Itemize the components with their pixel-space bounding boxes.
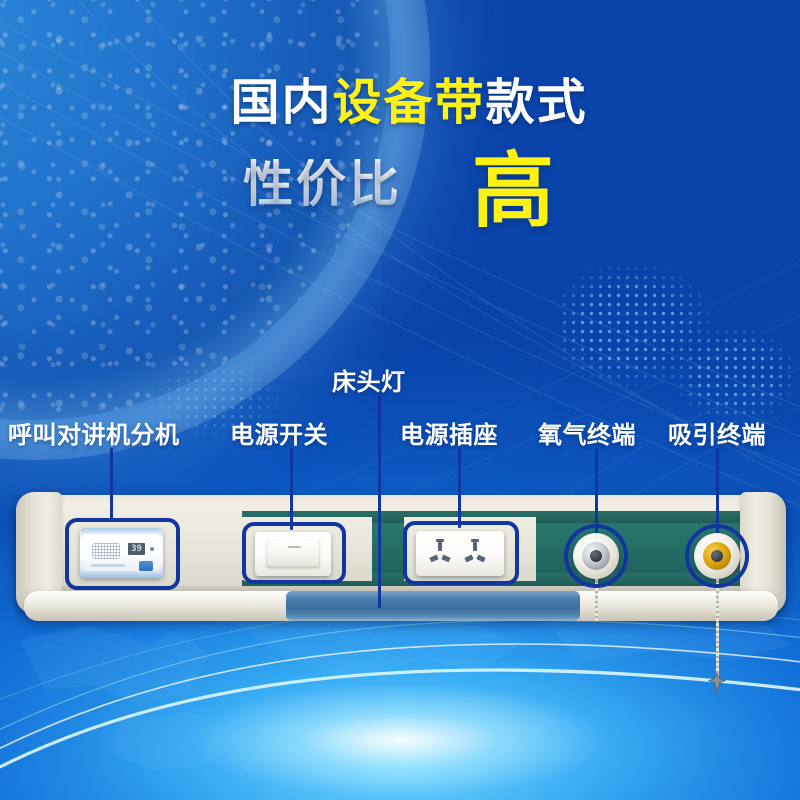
- leader-line-suction-terminal: [716, 448, 719, 534]
- power-switch-rocker[interactable]: [266, 540, 320, 568]
- oxygen-terminal-unit[interactable]: [573, 533, 619, 579]
- callout-label-bedside-lamp: 床头灯: [332, 362, 406, 397]
- power-switch-marking: [288, 546, 301, 548]
- intercom-label-strip: [91, 564, 125, 567]
- socket-left-pin-a: [429, 555, 438, 563]
- callout-label-suction-terminal: 吸引终端: [668, 415, 766, 450]
- suction-terminal-inner: [703, 542, 731, 570]
- callout-label-call-intercom-extension: 呼叫对讲机分机: [8, 415, 180, 450]
- oxygen-terminal-inner: [582, 542, 610, 570]
- power-switch-unit[interactable]: [255, 532, 331, 576]
- socket-left-top-pin-cap: [436, 539, 444, 542]
- leader-line-call-intercom-extension: [110, 448, 113, 522]
- suction-terminal-port: [711, 550, 723, 562]
- callout-label-oxygen-terminal: 氧气终端: [538, 415, 636, 450]
- socket-left-pin-b: [441, 555, 450, 563]
- callout-labels: 呼叫对讲机分机 电源开关 床头灯 电源插座 氧气终端 吸引终端: [0, 0, 800, 800]
- intercom-display: 39: [128, 543, 145, 555]
- oxygen-terminal-port: [590, 550, 602, 562]
- intercom-speaker-grille-icon: [92, 543, 120, 559]
- intercom-call-button[interactable]: [139, 561, 153, 571]
- call-intercom-extension-unit[interactable]: 39: [80, 528, 163, 578]
- power-socket-unit[interactable]: [416, 531, 504, 576]
- socket-right-pin-b: [476, 555, 485, 563]
- leader-line-oxygen-terminal: [595, 448, 598, 534]
- leader-line-bedside-lamp: [378, 396, 381, 608]
- suction-terminal-unit[interactable]: [694, 533, 740, 579]
- poster-stage: 国内设备带款式 性价比高 呼叫对讲机分机 电源开关 床头灯 电源插座 氧气终端 …: [0, 0, 800, 800]
- socket-right-pin-a: [464, 555, 473, 563]
- intercom-faceplate: 39: [84, 534, 159, 571]
- leader-line-power-switch: [290, 448, 293, 530]
- intercom-indicator-led: [150, 547, 154, 551]
- socket-left-top-pin: [438, 542, 442, 551]
- socket-right-top-pin-cap: [471, 539, 479, 542]
- callout-label-power-socket: 电源插座: [400, 415, 498, 450]
- leader-line-power-socket: [458, 448, 461, 528]
- callout-label-power-switch: 电源开关: [230, 415, 328, 450]
- socket-right-top-pin: [473, 542, 477, 551]
